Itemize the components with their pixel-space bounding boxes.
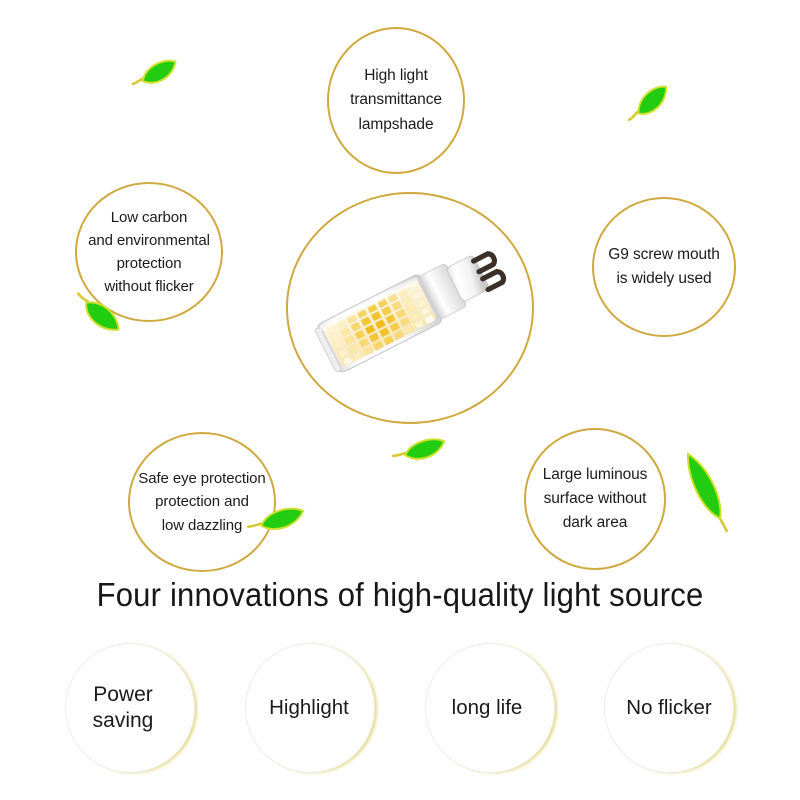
feature-line: protection bbox=[77, 252, 221, 275]
feature-bubble-large-luminous-surface: Large luminous surface without dark area bbox=[524, 428, 666, 570]
feature-line: Safe eye protection bbox=[130, 467, 274, 490]
feature-bubble-label: G9 screw mouth is widely used bbox=[594, 243, 734, 291]
benefit-line: Highlight bbox=[245, 695, 373, 721]
feature-bubble-high-light-transmittance: High light transmittance lampshade bbox=[327, 27, 465, 174]
feature-line: surface without bbox=[526, 487, 664, 511]
green-leaf-icon bbox=[62, 276, 132, 361]
green-leaf-icon bbox=[676, 444, 736, 545]
green-leaf-icon bbox=[244, 498, 314, 551]
feature-line: is widely used bbox=[594, 267, 734, 291]
benefit-circle-long-life: long life bbox=[425, 643, 555, 773]
benefit-circle-highlight: Highlight bbox=[245, 643, 375, 773]
benefit-line: saving bbox=[59, 708, 187, 734]
benefit-label: Highlight bbox=[245, 695, 373, 721]
feature-bubble-label: Large luminous surface without dark area bbox=[526, 463, 664, 535]
feature-line: G9 screw mouth bbox=[594, 243, 734, 267]
benefit-label: No flicker bbox=[605, 695, 733, 721]
benefit-circle-row: Power saving Highlight long life No flic… bbox=[0, 643, 800, 783]
feature-line: Large luminous bbox=[526, 463, 664, 487]
feature-line: and environmental bbox=[77, 229, 221, 252]
product-infographic: High light transmittance lampshade Low c… bbox=[0, 0, 800, 800]
product-highlight-circle bbox=[286, 192, 534, 424]
green-leaf-icon bbox=[620, 78, 680, 137]
benefit-label: long life bbox=[423, 695, 551, 721]
benefit-line: long life bbox=[423, 695, 551, 721]
feature-bubble-label: High light transmittance lampshade bbox=[329, 64, 463, 136]
benefit-line: No flicker bbox=[605, 695, 733, 721]
green-leaf-icon bbox=[388, 430, 454, 479]
page-title: Four innovations of high-quality light s… bbox=[24, 578, 776, 611]
feature-line: dark area bbox=[526, 511, 664, 535]
feature-bubble-g9-screw-mouth: G9 screw mouth is widely used bbox=[592, 197, 736, 337]
benefit-circle-power-saving: Power saving bbox=[65, 643, 195, 773]
feature-line: lampshade bbox=[329, 113, 463, 137]
benefit-line: Power bbox=[59, 682, 187, 708]
feature-line: Low carbon bbox=[77, 206, 221, 229]
benefit-label: Power saving bbox=[59, 682, 187, 735]
feature-line: transmittance bbox=[329, 88, 463, 112]
benefit-circle-no-flicker: No flicker bbox=[604, 643, 734, 773]
feature-line: High light bbox=[329, 64, 463, 88]
green-leaf-icon bbox=[126, 52, 186, 105]
